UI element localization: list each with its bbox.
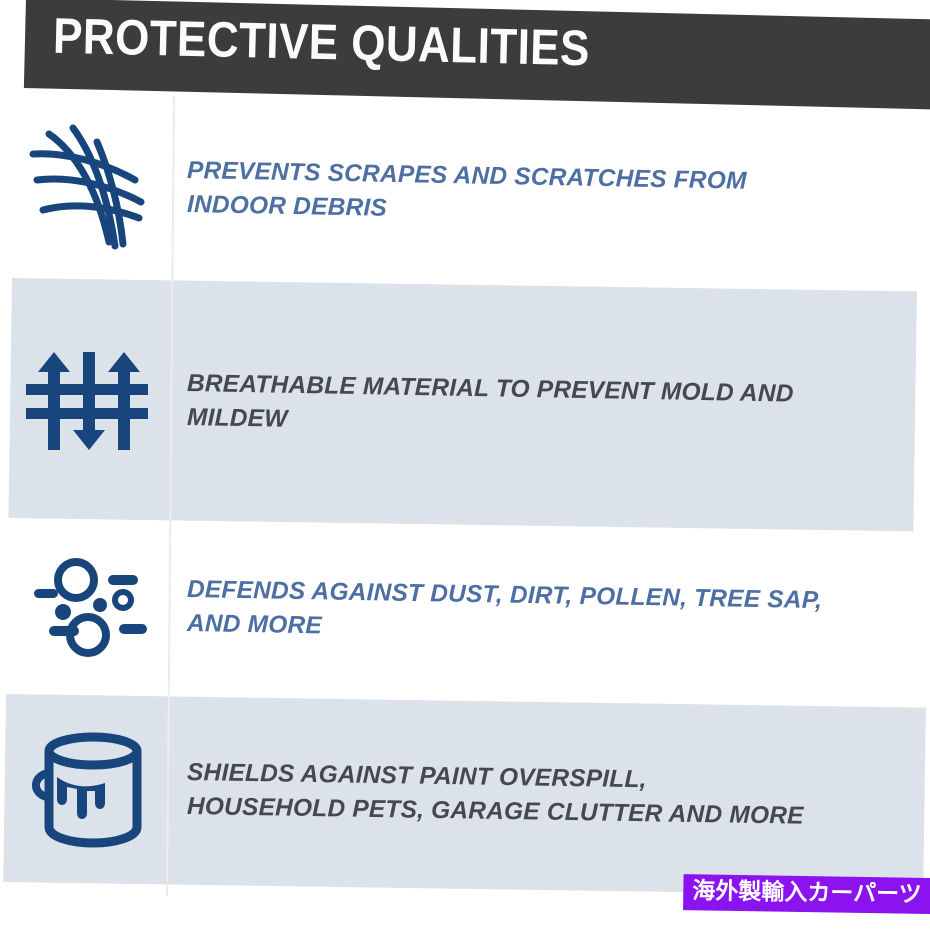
feature-row-2: BREATHABLE MATERIAL TO PREVENT MOLD AND … (0, 288, 930, 513)
feature-row-1: PREVENTS SCRAPES AND SCRATCHES FROM INDO… (0, 100, 930, 275)
woven-mesh-icon (23, 118, 151, 258)
feature-icon-cell-2 (0, 346, 173, 456)
feature-icon-cell-4 (0, 729, 173, 851)
feature-row-3: DEFENDS AGAINST DUST, DIRT, POLLEN, TREE… (0, 524, 930, 689)
feature-text-cell-3: DEFENDS AGAINST DUST, DIRT, POLLEN, TREE… (173, 573, 930, 641)
feature-row-4: SHIELDS AGAINST PAINT OVERSPILL, HOUSEHO… (0, 700, 930, 880)
paint-can-icon (27, 729, 147, 851)
infographic-page: PROTECTIVE QUALITIES PREVENTS SCRAPES AN… (0, 0, 930, 930)
feature-text-cell-2: BREATHABLE MATERIAL TO PREVENT MOLD AND … (173, 367, 930, 435)
page-title: PROTECTIVE QUALITIES (52, 5, 590, 80)
feature-text-cell-4: SHIELDS AGAINST PAINT OVERSPILL, HOUSEHO… (173, 756, 930, 824)
breathable-arrows-icon (24, 346, 150, 456)
watermark-badge: 海外製輸入カーパーツ (683, 874, 930, 914)
feature-text-cell-1: PREVENTS SCRAPES AND SCRATCHES FROM INDO… (173, 154, 930, 222)
feature-icon-cell-1 (0, 118, 173, 258)
header-banner: PROTECTIVE QUALITIES (24, 0, 930, 110)
feature-icon-cell-3 (0, 555, 173, 659)
dust-particles-icon (22, 555, 152, 659)
watermark-text: 海外製輸入カーパーツ (692, 878, 922, 908)
